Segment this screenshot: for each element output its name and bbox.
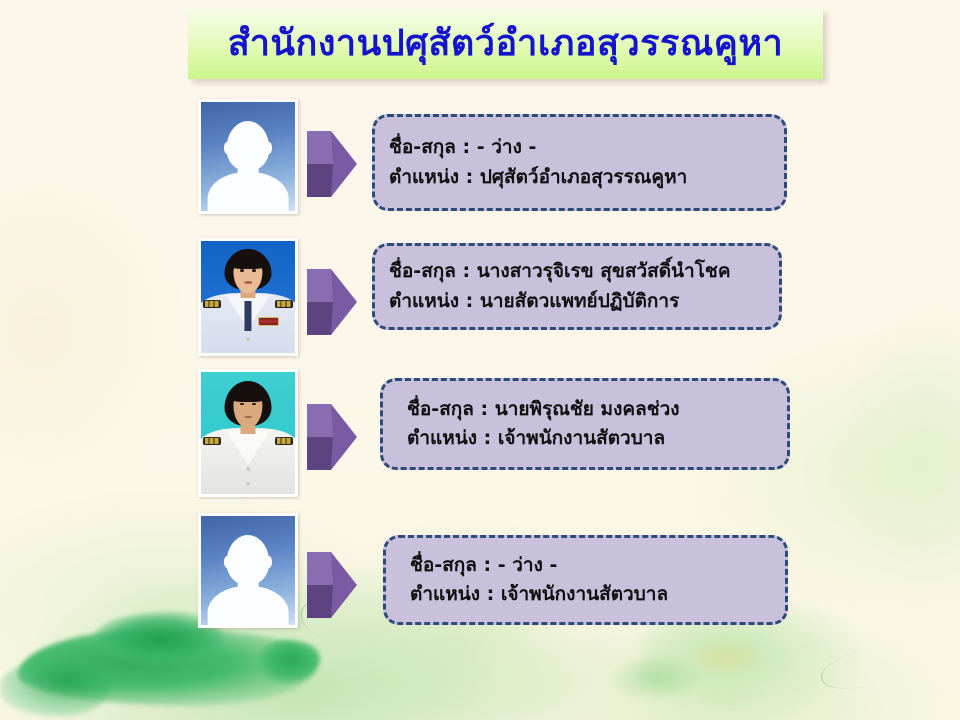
staff-position-line: ตำแหน่ง : เจ้าพนักงานสัตวบาล	[386, 580, 785, 609]
portrait-male-officer-image	[201, 372, 295, 494]
staff-name-line: ชื่อ-สกุล : - ว่าง -	[386, 551, 785, 580]
title-banner: สำนักงานปศุสัตว์อำเภอสุวรรณคูหา	[188, 9, 823, 79]
staff-info-card: ชื่อ-สกุล : นางสาวรุจิเรข สุขสวัสดิ์นำโช…	[372, 243, 782, 330]
chevron-right-icon	[305, 125, 359, 203]
portrait-female-officer-image	[201, 241, 295, 353]
staff-info-card: ชื่อ-สกุล : - ว่าง - ตำแหน่ง : เจ้าพนักง…	[383, 535, 788, 625]
staff-photo	[198, 99, 298, 214]
staff-name-line: ชื่อ-สกุล : - ว่าง -	[375, 133, 784, 162]
chevron-right-icon	[305, 398, 359, 476]
staff-position-line: ตำแหน่ง : นายสัตวแพทย์ปฏิบัติการ	[375, 287, 779, 316]
page-title: สำนักงานปศุสัตว์อำเภอสุวรรณคูหา	[228, 26, 784, 62]
staff-photo	[198, 369, 298, 497]
placeholder-avatar-icon	[201, 102, 295, 211]
staff-position-line: ตำแหน่ง : ปศุสัตว์อำเภอสุวรรณคูหา	[375, 163, 784, 192]
background-wash-bottom-right-small	[610, 655, 700, 701]
chevron-right-icon	[305, 546, 359, 624]
staff-info-card: ชื่อ-สกุล : นายพิรุณชัย มงคลช่วง ตำแหน่ง…	[380, 378, 790, 470]
staff-photo	[198, 238, 298, 356]
staff-name-line: ชื่อ-สกุล : นายพิรุณชัย มงคลช่วง	[383, 395, 787, 424]
staff-info-card: ชื่อ-สกุล : - ว่าง - ตำแหน่ง : ปศุสัตว์อ…	[372, 114, 787, 211]
placeholder-avatar-icon	[201, 516, 295, 625]
staff-name-line: ชื่อ-สกุล : นางสาวรุจิเรข สุขสวัสดิ์นำโช…	[375, 257, 779, 286]
slide-canvas: สำนักงานปศุสัตว์อำเภอสุวรรณคูหา ชื่อ-สกุ…	[0, 0, 960, 720]
staff-position-line: ตำแหน่ง : เจ้าพนักงานสัตวบาล	[383, 424, 787, 453]
background-wash-ochre	[690, 640, 760, 674]
staff-photo	[198, 513, 298, 628]
green-ink-splotch-corner	[0, 660, 110, 716]
chevron-right-icon	[305, 263, 359, 341]
